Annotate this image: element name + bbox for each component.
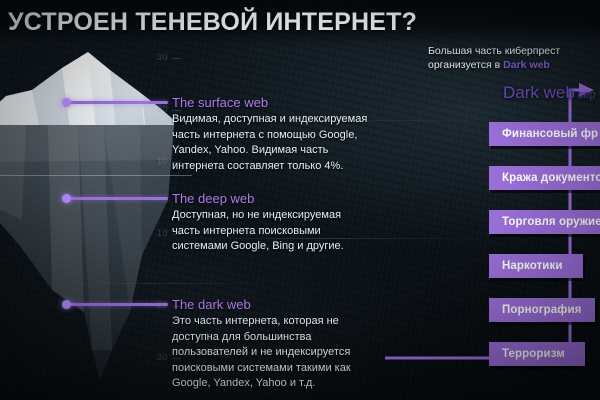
- infographic-canvas: 30 20 10 10 20 30 УСТРОЕН ТЕНЕВОЙ ИНТЕРН…: [0, 0, 600, 400]
- vignette-overlay: [0, 0, 600, 400]
